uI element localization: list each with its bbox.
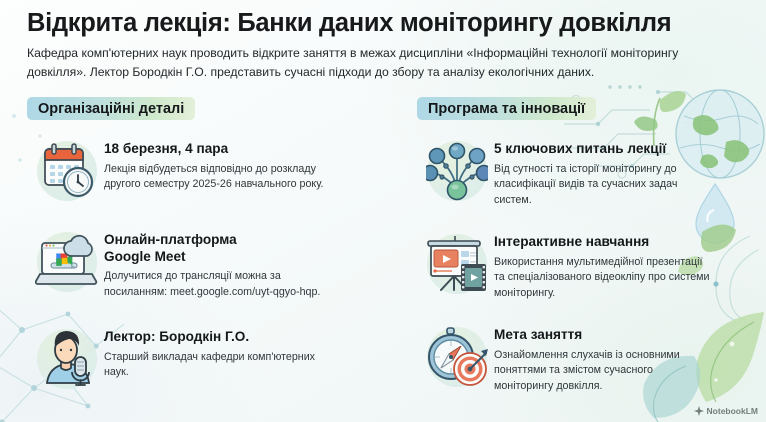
list-item-title: Мета заняття bbox=[494, 327, 714, 344]
list-item-body: Долучитися до трансляції можна за посила… bbox=[104, 269, 336, 300]
list-item-body: Ознайомлення слухачів із основними понят… bbox=[494, 348, 714, 395]
list-item-body: Від сутності та історії моніторингу до к… bbox=[494, 162, 714, 209]
list-item-title: 18 березня, 4 пара bbox=[104, 141, 336, 158]
notebooklm-watermark: NotebookLM bbox=[694, 406, 758, 416]
notebooklm-logo-icon bbox=[694, 406, 704, 416]
network-nodes-icon bbox=[420, 134, 494, 208]
list-item: Мета заняття Ознайомлення слухачів із ос… bbox=[420, 320, 714, 394]
section-heading-program: Програма та інновації bbox=[417, 97, 596, 120]
notebooklm-watermark-label: NotebookLM bbox=[707, 406, 758, 416]
list-item-title: Інтерактивне навчання bbox=[494, 234, 714, 251]
list-item-title: Лектор: Бородкін Г.О. bbox=[104, 329, 336, 346]
page-subtitle: Кафедра комп'ютерних наук проводить відк… bbox=[27, 44, 727, 81]
compass-target-icon bbox=[420, 320, 494, 394]
infographic-page: Відкрита лекція: Банки даних моніторингу… bbox=[0, 0, 766, 422]
laptop-cloud-meet-icon bbox=[30, 225, 104, 299]
list-item: Онлайн-платформа Google Meet Долучитися … bbox=[30, 225, 336, 300]
list-item-body: Використання мультимедійної презентації … bbox=[494, 255, 714, 302]
list-item: Лектор: Бородкін Г.О. Старший викладач к… bbox=[30, 322, 336, 396]
list-item-body: Лекція відбудеться відповідно до розклад… bbox=[104, 162, 336, 193]
list-item: 18 березня, 4 пара Лекція відбудеться ві… bbox=[30, 134, 336, 208]
section-heading-organizational: Організаційні деталі bbox=[27, 97, 195, 120]
list-item-title: 5 ключових питань лекції bbox=[494, 141, 714, 158]
list-item: 5 ключових питань лекції Від сутності та… bbox=[420, 134, 714, 208]
list-item-title: Онлайн-платформа Google Meet bbox=[104, 232, 336, 265]
speaker-microphone-icon bbox=[30, 322, 104, 396]
list-item-body: Старший викладач кафедри комп'ютерних на… bbox=[104, 350, 336, 381]
calendar-clock-icon bbox=[30, 134, 104, 208]
page-title: Відкрита лекція: Банки даних моніторингу… bbox=[27, 9, 739, 37]
list-item: Інтерактивне навчання Використання мульт… bbox=[420, 227, 714, 301]
presentation-video-icon bbox=[420, 227, 494, 301]
